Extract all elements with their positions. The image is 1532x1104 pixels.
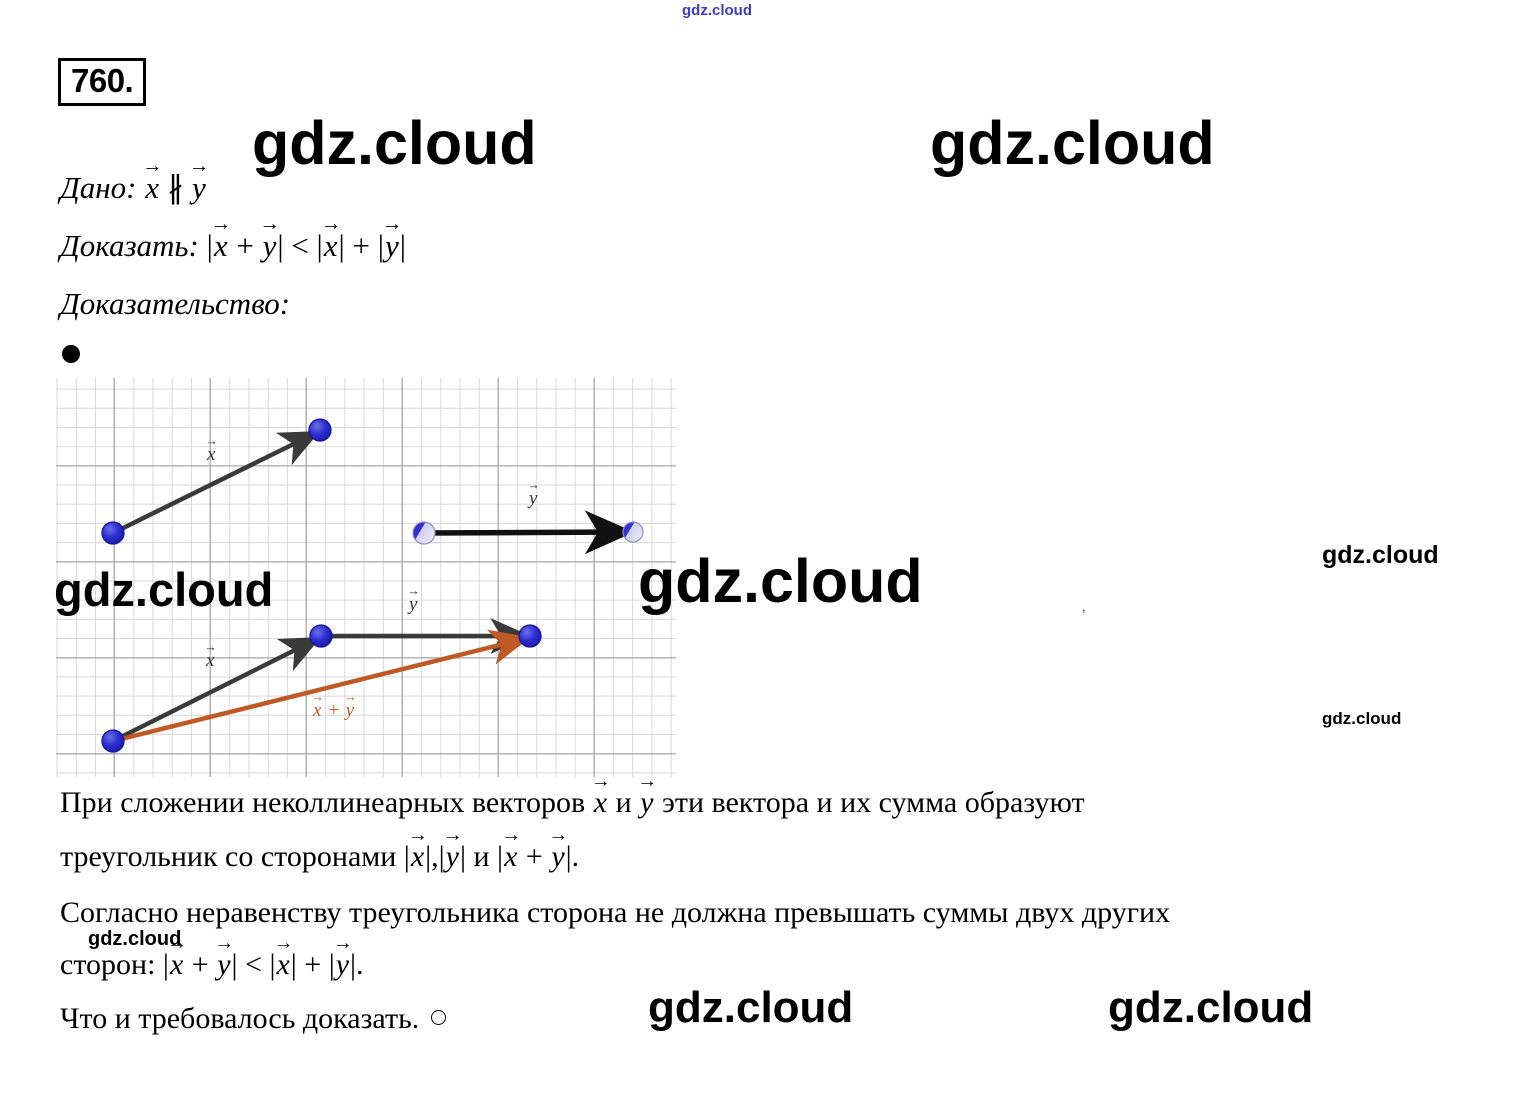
vector-y-top-arrow <box>426 532 626 533</box>
p2l2-c: | < | <box>232 948 276 981</box>
p1l2-d: + <box>518 840 550 873</box>
proof-line: Доказательство: <box>60 286 290 322</box>
watermark-e: gdz.cloud <box>1322 541 1439 570</box>
point-y-tail-top <box>413 522 435 544</box>
watermark-d: gdz.cloud <box>638 546 923 616</box>
figure-label-sum: x + y <box>312 700 355 722</box>
watermark-g: gdz.cloud <box>88 928 181 951</box>
p2l2-vector-x2: x <box>275 948 290 982</box>
qed-text: Что и требовалось доказать. <box>60 1002 419 1035</box>
p1l2-c: | и | <box>460 840 503 873</box>
point-y-head-top <box>623 522 643 542</box>
watermark-top: gdz.cloud <box>682 2 752 19</box>
watermark-a: gdz.cloud <box>252 108 537 178</box>
figure-label-sum-y: y <box>345 700 355 722</box>
figure-label-y-bottom: y <box>408 594 418 616</box>
point-x-tail-top <box>102 522 124 544</box>
point-sum-origin <box>102 730 124 752</box>
paragraph-1-line-1: При сложении неколлинеарных векторов x и… <box>60 786 1085 820</box>
point-y-head-bottom <box>519 625 541 647</box>
problem-number: 760. <box>58 58 146 106</box>
given-label: Дано: <box>60 170 136 205</box>
p1l2-vector-x2: x <box>503 840 518 874</box>
paragraph-2-line-2: сторон: |x + y| < |x| + |y|. <box>60 948 364 982</box>
less-than: | < | <box>277 228 322 263</box>
figure-label-y-top: y <box>528 488 538 510</box>
given-vector-y: y <box>191 170 207 206</box>
formula-vector-x-2: x <box>323 228 339 264</box>
p2l2-d: | + | <box>291 948 335 981</box>
formula-vector-y-1: y <box>262 228 278 264</box>
bullet-icon <box>62 345 80 363</box>
p2l2-vector-y: y <box>216 948 231 982</box>
proof-label: Доказательство: <box>60 286 290 321</box>
paragraph-2-line-1: Согласно неравенству треугольника сторон… <box>60 896 1170 930</box>
figure-label-sum-x: x <box>312 700 322 722</box>
plus-1: + <box>229 228 262 263</box>
p2l2-vector-x: x <box>169 948 184 982</box>
given-vector-x: x <box>144 170 160 206</box>
formula-vector-y-2: y <box>384 228 400 264</box>
given-line: Дано: x ∦ y <box>60 170 207 206</box>
point-x-head-top <box>309 419 331 441</box>
figure-label-x-bottom: x <box>205 650 215 672</box>
p1l1-a: При сложении неколлинеарных векторов <box>60 786 593 819</box>
p1l2-vector-x: x <box>410 840 425 874</box>
watermark-c: gdz.cloud <box>54 562 273 617</box>
qed-circle-icon <box>431 1010 446 1025</box>
figure-label-x-top: x <box>206 444 216 466</box>
p1l1-vector-y: y <box>639 786 654 820</box>
stray-tick-mark: , <box>1082 600 1086 616</box>
not-parallel-icon: ∦ <box>168 170 184 205</box>
watermark-i: gdz.cloud <box>1108 983 1313 1033</box>
plus-2: | + | <box>339 228 384 263</box>
p1l2-a: треугольник со сторонами | <box>60 840 410 873</box>
figure-label-sum-plus: + <box>322 700 344 721</box>
p1l2-vector-y2: y <box>550 840 565 874</box>
watermark-b: gdz.cloud <box>930 108 1215 178</box>
p1l2-b: |,| <box>425 840 445 873</box>
p1l1-vector-x: x <box>593 786 608 820</box>
point-x-head-bottom <box>310 625 332 647</box>
p1l2-vector-y: y <box>445 840 460 874</box>
p1l1-c: эти вектора и их сумма образуют <box>654 786 1084 819</box>
prove-label: Доказать: <box>60 228 199 263</box>
p2l2-a: сторон: | <box>60 948 169 981</box>
prove-line: Доказать: |x + y| < |x| + |y| <box>60 228 406 264</box>
prove-formula: |x + y| < |x| + |y| <box>207 228 406 263</box>
watermark-f: gdz.cloud <box>1322 709 1401 729</box>
p1l1-b: и <box>608 786 639 819</box>
watermark-h: gdz.cloud <box>648 983 853 1033</box>
paragraph-3-qed: Что и требовалось доказать. <box>60 1002 446 1036</box>
p2l2-vector-y2: y <box>335 948 350 982</box>
formula-vector-x-1: x <box>213 228 229 264</box>
p2l2-b: + <box>184 948 216 981</box>
paragraph-1-line-2: треугольник со сторонами |x|,|y| и |x + … <box>60 840 579 874</box>
page-root: gdz.cloud 760. Дано: x ∦ y Доказать: |x … <box>0 0 1532 1104</box>
